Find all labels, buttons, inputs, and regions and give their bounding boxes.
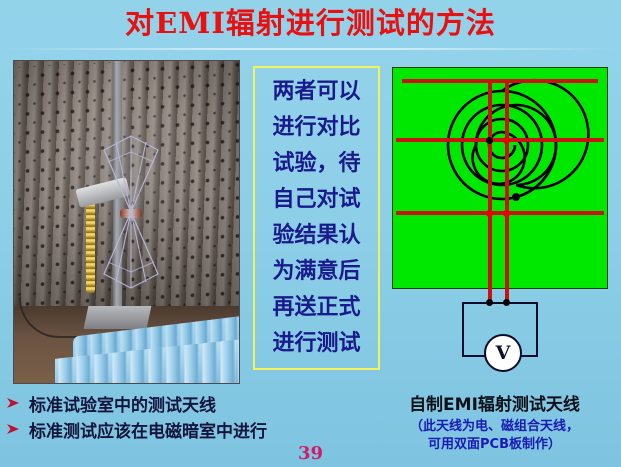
textbox-line: 为满意后 (272, 254, 360, 290)
arrow-bullet-icon (6, 422, 20, 436)
textbox-line: 两者可以 (272, 74, 360, 110)
bullet-text: 标准试验室中的测试天线 (29, 391, 216, 416)
slide-canvas: 对EMI辐射进行测试的方法 (0, 0, 621, 467)
node-bottom-left (486, 210, 493, 217)
textbox-line: 再送正式 (272, 290, 360, 326)
textbox-line: 自己对试 (272, 182, 360, 218)
trace-vertical-right (505, 79, 509, 303)
caption-title: 自制EMI辐射测试天线 (372, 390, 617, 415)
bullet-list: 标准试验室中的测试天线 标准测试应该在电磁暗室中进行 (6, 390, 346, 442)
trace-horizontal-top (402, 79, 598, 83)
node-bottom-right (503, 210, 510, 217)
page-title: 对EMI辐射进行测试的方法 (0, 6, 621, 40)
trace-vertical-left (488, 79, 492, 303)
page-number: 39 (0, 443, 621, 464)
terminal-left (486, 299, 493, 306)
textbox-line: 验结果认 (272, 218, 360, 254)
biconical-antenna (96, 132, 166, 293)
comparison-text-box: 两者可以 进行对比 试验，待 自己对试 验结果认 为满意后 再送正式 进行测试 (253, 66, 380, 370)
textbox-line: 试验，待 (272, 146, 360, 182)
title-divider (0, 48, 621, 50)
caption-note-line1: （此天线为电、磁组合天线， (372, 418, 617, 436)
antenna-spring-cable (86, 203, 95, 293)
arrow-bullet-icon (6, 396, 20, 410)
anechoic-chamber-photo (13, 60, 240, 384)
bullet-text: 标准测试应该在电磁暗室中进行 (29, 417, 267, 442)
node-coil-center (486, 137, 493, 144)
diy-antenna-diagram: V (388, 62, 613, 380)
terminal-right (503, 299, 510, 306)
trace-horizontal-middle (396, 138, 604, 142)
list-item: 标准试验室中的测试天线 (6, 390, 346, 416)
textbox-line: 进行对比 (272, 110, 360, 146)
list-item: 标准测试应该在电磁暗室中进行 (6, 416, 346, 442)
antenna-mast-base (84, 306, 152, 329)
spiral-coil (392, 67, 608, 289)
textbox-line: 进行测试 (272, 326, 360, 362)
trace-horizontal-bottom (396, 211, 604, 215)
voltmeter: V (484, 334, 522, 372)
node-middle-right (503, 137, 510, 144)
